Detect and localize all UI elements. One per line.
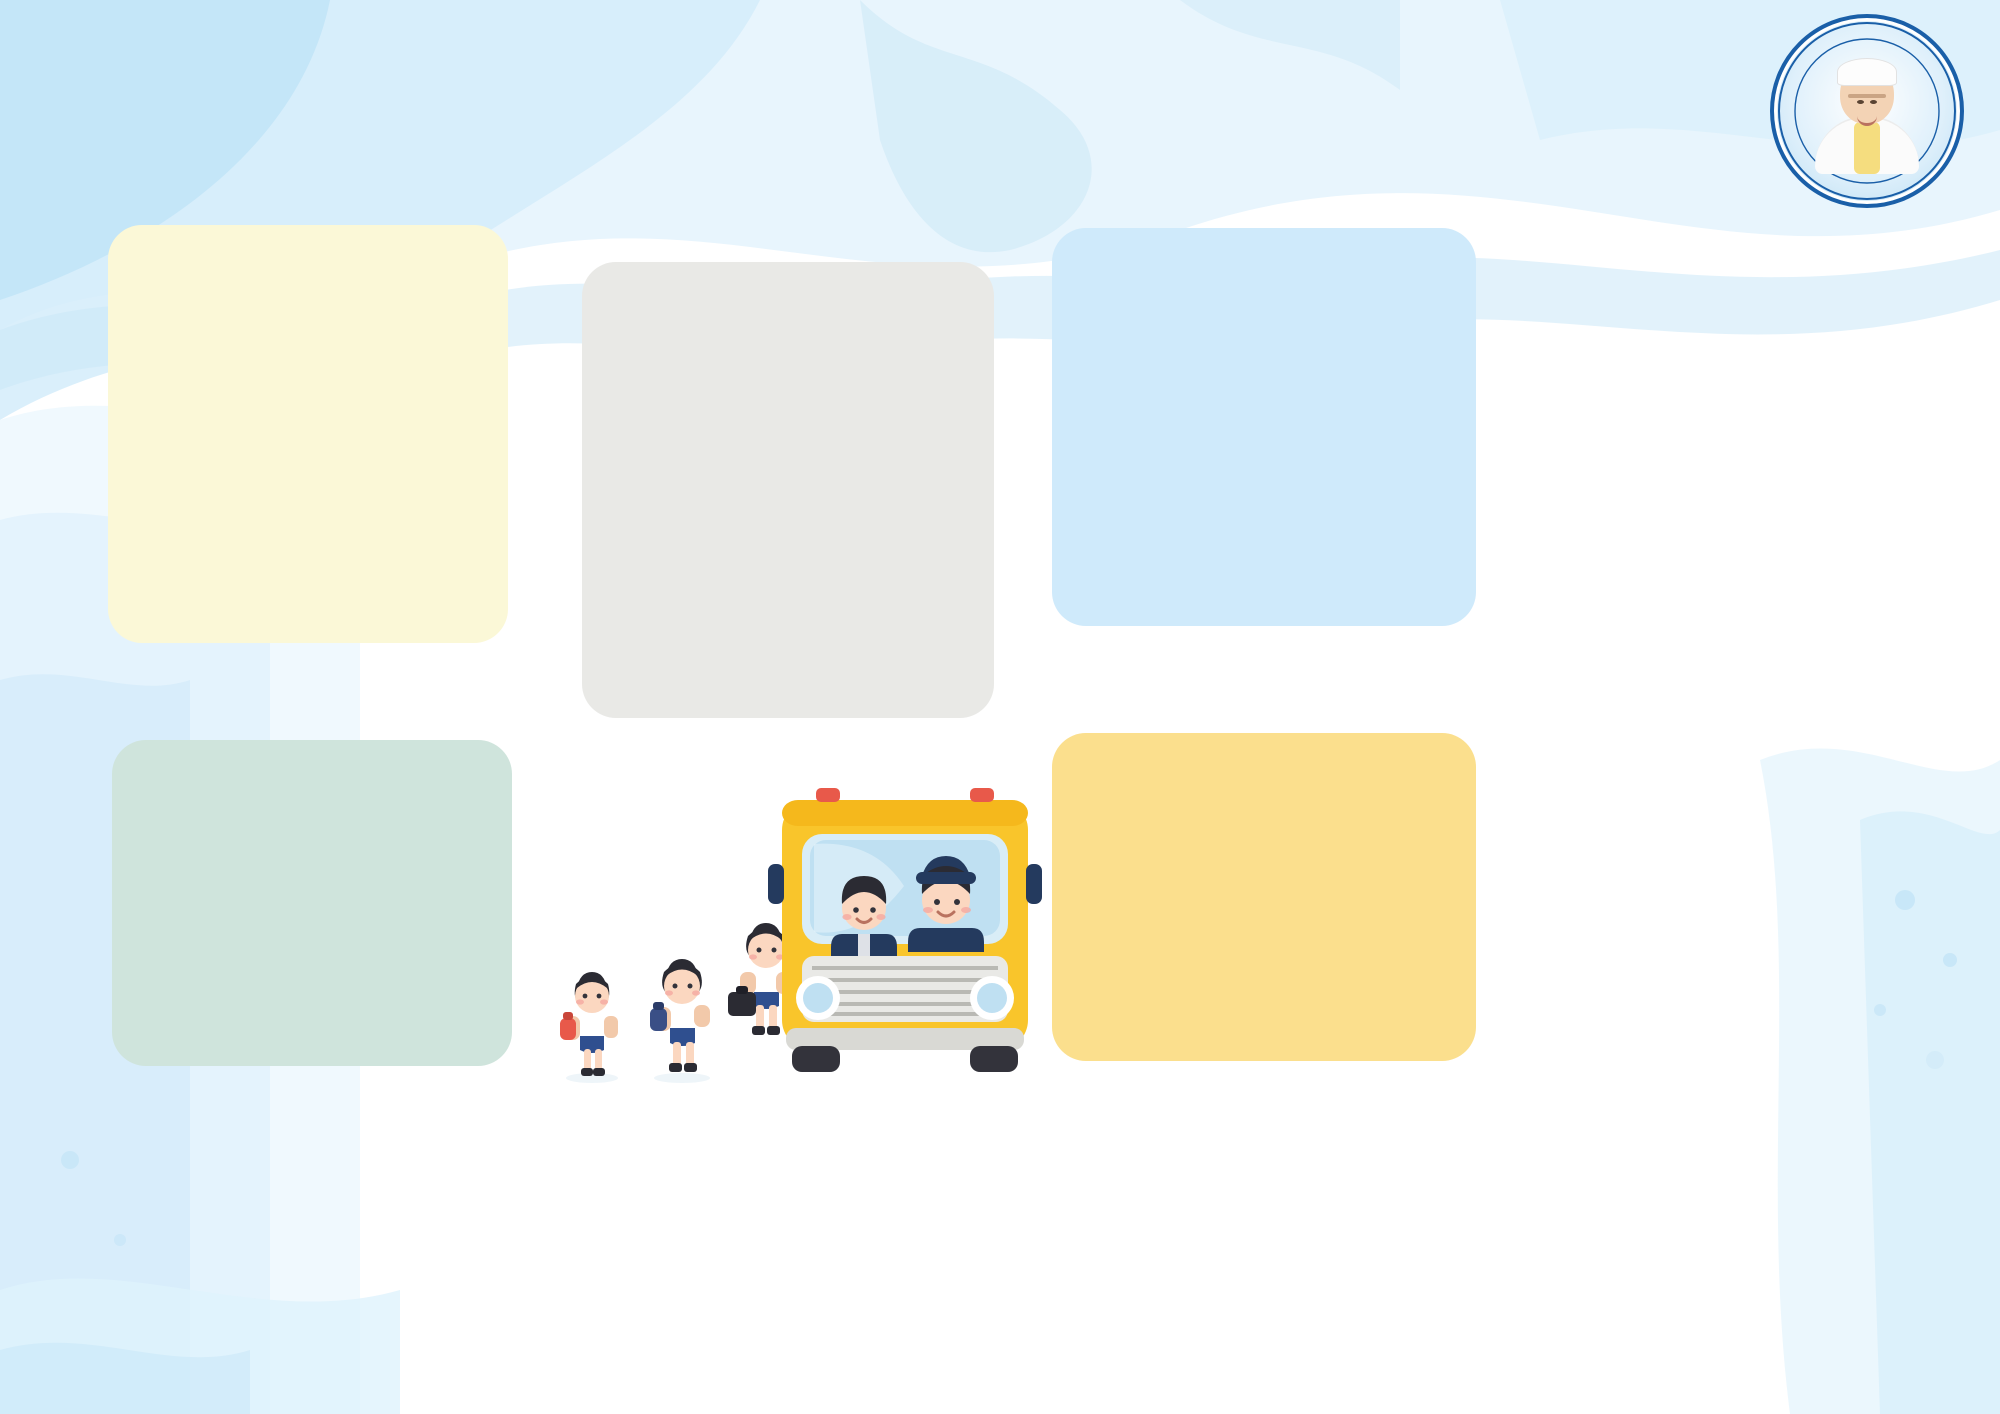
schedule-card-odwoz-3 (1052, 228, 1476, 626)
schedule-card-odwoz-1 (108, 225, 508, 643)
child-walking-1 (560, 972, 618, 1083)
school-emblem (1770, 14, 1964, 208)
pope-portrait (1811, 56, 1923, 174)
pope-zucchetto (1837, 58, 1897, 86)
school-bus-illustration (530, 760, 1050, 1090)
schedule-card-odwoz-2 (582, 262, 994, 718)
schedule-card-odwoz-4 (112, 740, 512, 1066)
schedule-card-odwoz-5 (1052, 733, 1476, 1061)
pope-eye-left (1870, 100, 1877, 104)
background-watercolor (0, 0, 2000, 1414)
bus-body (768, 788, 1042, 1072)
child-walking-2 (650, 959, 710, 1083)
pope-eye-right (1857, 100, 1864, 104)
page-header (0, 18, 2000, 30)
pope-brow (1848, 94, 1886, 98)
pope-stole (1854, 122, 1880, 174)
